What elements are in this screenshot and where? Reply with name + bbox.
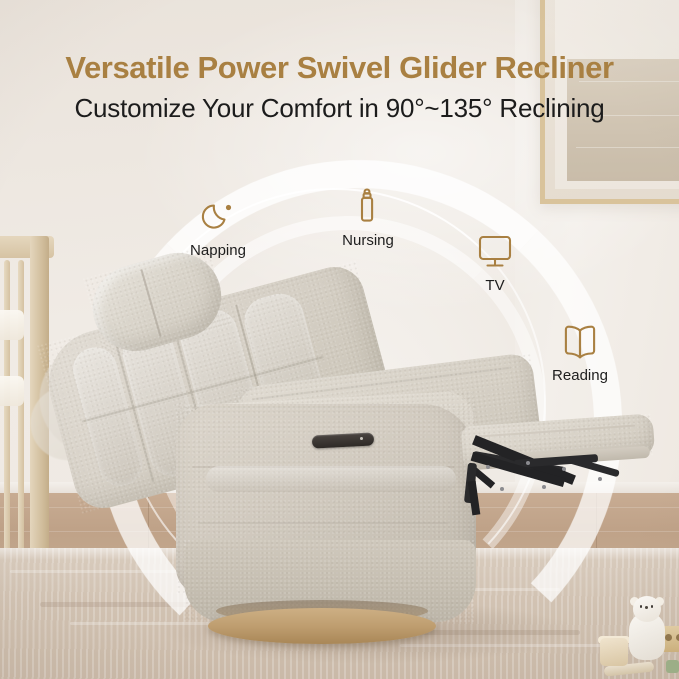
feature-tv: TV [440, 232, 550, 294]
feature-label: TV [440, 277, 550, 294]
wooden-cup-toy [600, 638, 628, 666]
chair-arm-fold-seam [206, 466, 456, 492]
feature-reading: Reading [520, 322, 640, 384]
baby-bottle-icon [318, 187, 418, 229]
feature-nursing: Nursing [318, 187, 418, 249]
tv-icon [440, 232, 550, 274]
page-subtitle: Customize Your Comfort in 90°~135° Recli… [0, 93, 679, 124]
open-book-icon [520, 322, 640, 364]
moon-icon [168, 197, 268, 239]
green-block-toy [666, 660, 679, 673]
recliner-mechanism [470, 455, 640, 525]
product-marketing-image: Versatile Power Swivel Glider Recliner C… [0, 0, 679, 679]
page-title: Versatile Power Swivel Glider Recliner [0, 50, 679, 86]
power-button-indicator [360, 437, 363, 440]
feature-napping: Napping [168, 197, 268, 259]
wood-swivel-base [208, 608, 436, 644]
feature-label: Napping [168, 242, 268, 259]
feature-label: Reading [520, 367, 640, 384]
feature-label: Nursing [318, 232, 418, 249]
teddy-bear-toy [627, 596, 667, 660]
